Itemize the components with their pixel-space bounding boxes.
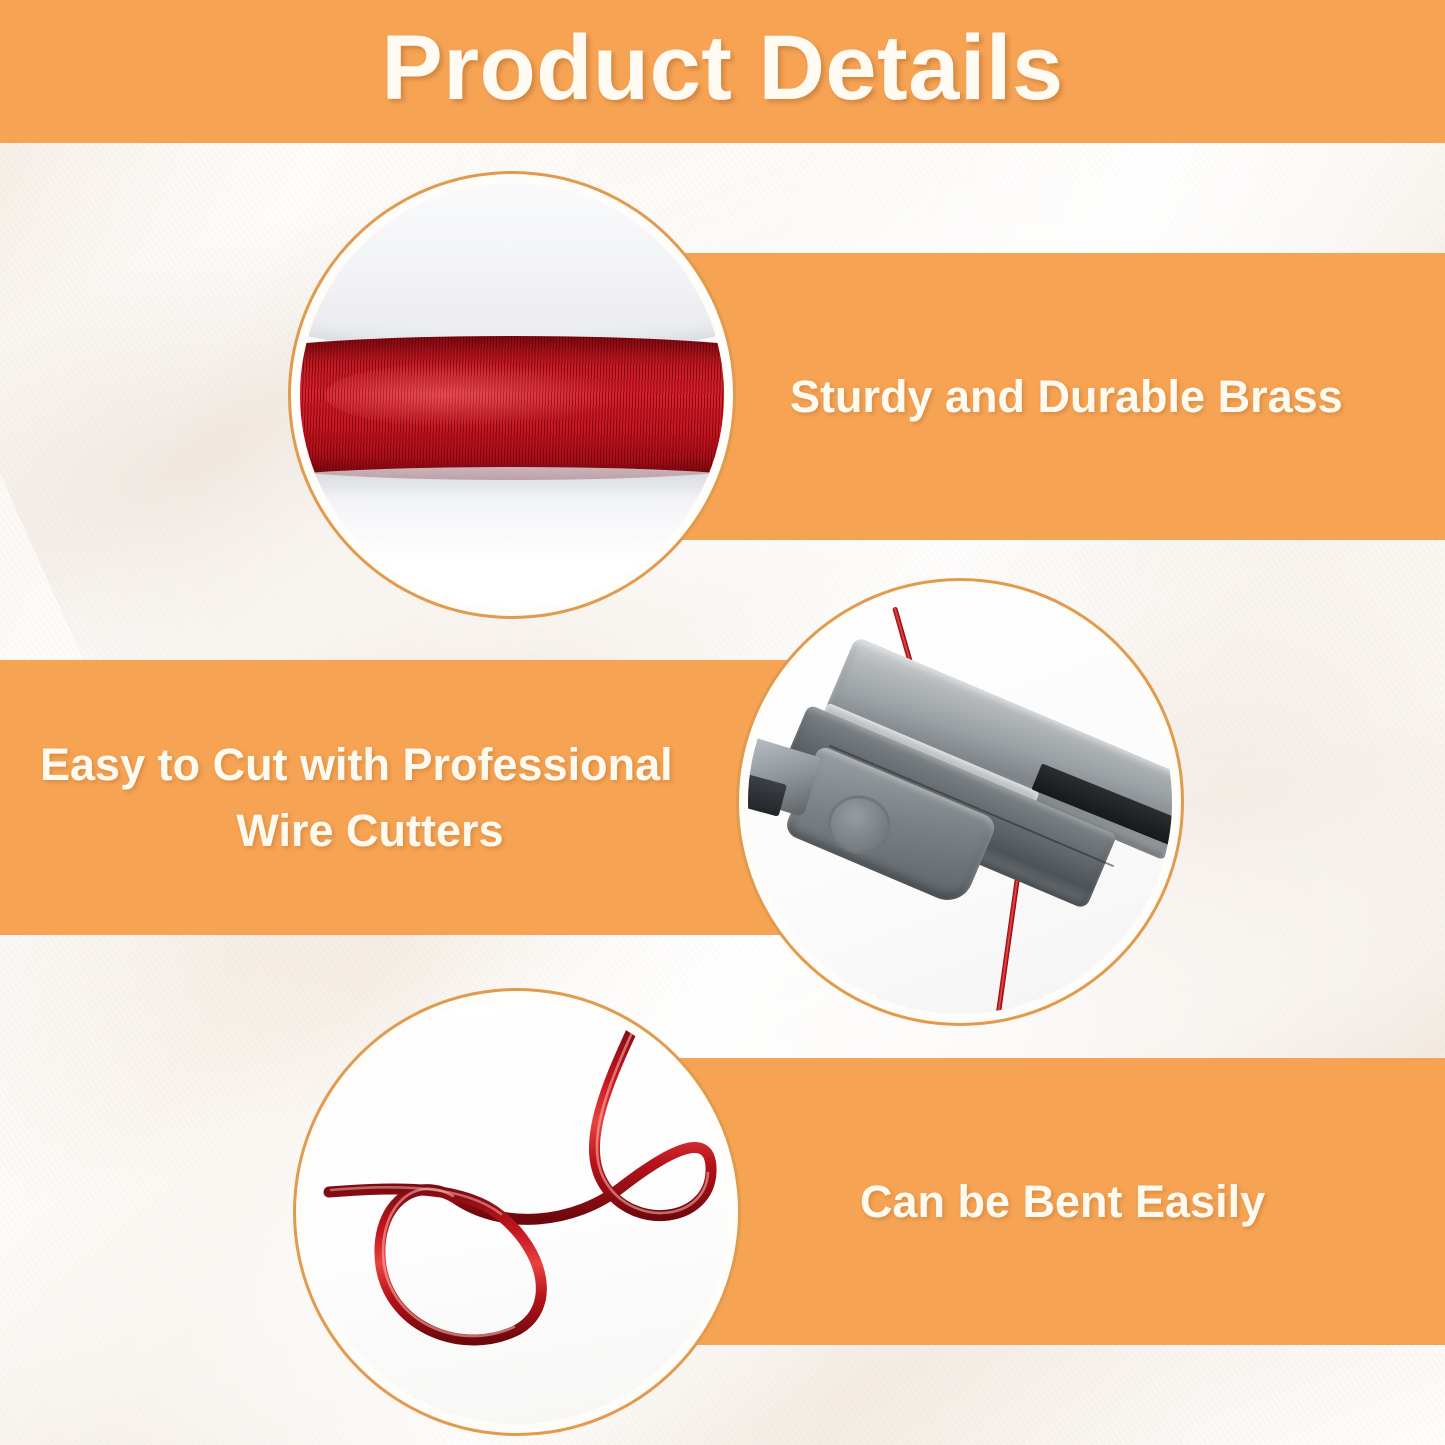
product-details-infographic: Product Details Sturdy and Durable Brass… <box>0 0 1445 1445</box>
feature-caption-line-1: Can be Bent Easily <box>860 1169 1265 1234</box>
feature-caption-easy-to-cut: Easy to Cut with Professional Wire Cutte… <box>40 732 700 863</box>
spool-rim-edge <box>300 467 724 501</box>
bent-wire-illustration <box>305 1000 729 1424</box>
wire-highlight <box>325 361 622 429</box>
bent-red-wire-photo <box>305 1000 729 1424</box>
spool-upper-flange <box>300 183 724 353</box>
feature-caption-bent-easily: Can be Bent Easily <box>860 1169 1265 1234</box>
red-wire-spool-photo-content <box>300 183 724 607</box>
feature-caption-line-1: Sturdy and Durable Brass <box>790 364 1343 429</box>
page-title: Product Details <box>381 22 1063 114</box>
header-banner: Product Details <box>0 0 1445 143</box>
feature-caption-line-1: Easy to Cut with Professional <box>40 732 700 797</box>
bent-red-wire-photo-content <box>305 1000 729 1424</box>
feature-caption-sturdy-durable-brass: Sturdy and Durable Brass <box>790 364 1343 429</box>
bent-wire-left-loop <box>329 1189 541 1340</box>
bent-wire-highlight-right <box>597 1026 708 1213</box>
bent-wire-right-loop <box>455 1024 711 1219</box>
feature-caption-line-2: Wire Cutters <box>40 798 700 863</box>
wire-cutter-pliers-photo <box>748 590 1172 1014</box>
red-wire-spool-photo <box>300 183 724 607</box>
wire-cutter-pliers-photo-content <box>748 590 1172 1014</box>
